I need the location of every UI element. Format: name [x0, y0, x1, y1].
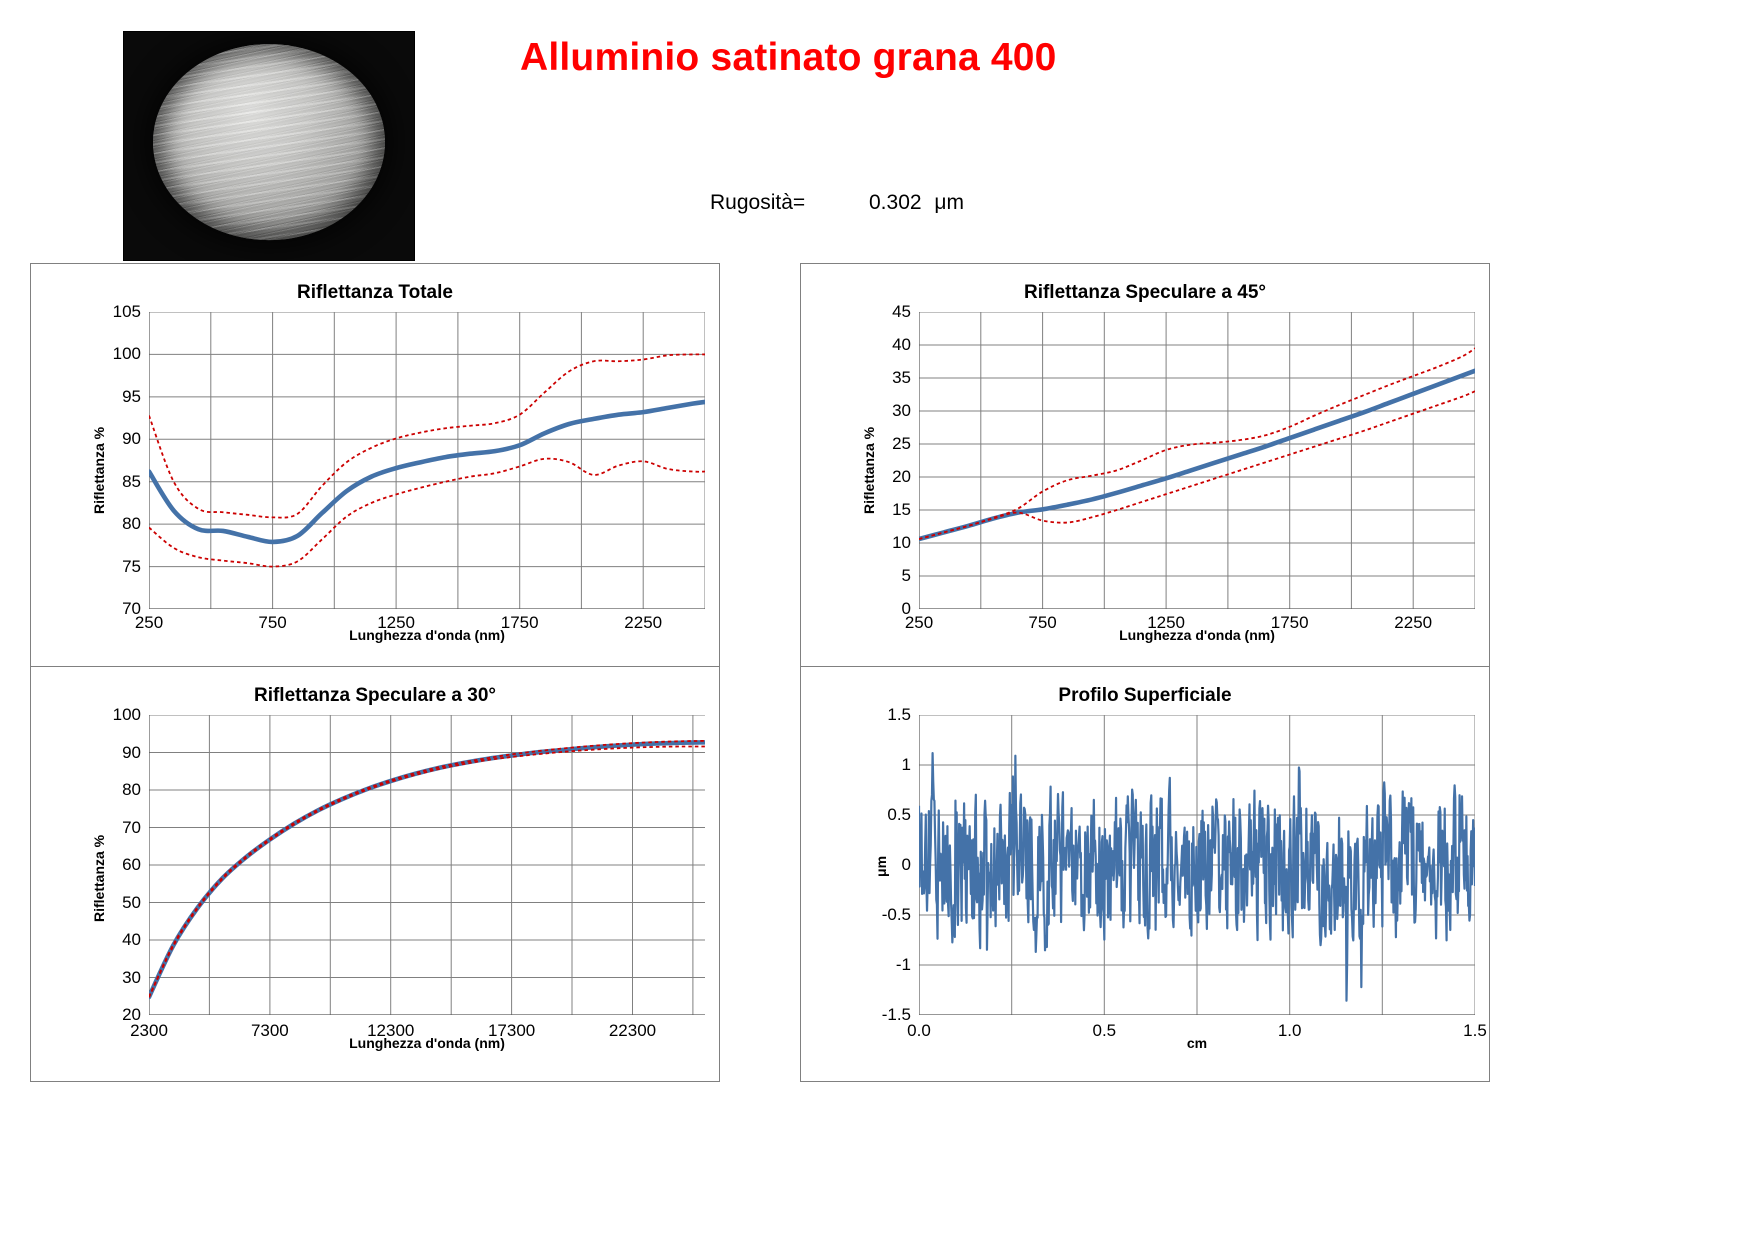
y-axis-tick: 10	[853, 533, 911, 553]
plot-area-riflettanza-speculare-45	[919, 312, 1475, 609]
y-axis-tick: 5	[853, 566, 911, 586]
y-axis-tick: 0	[853, 599, 911, 619]
chart-title: Riflettanza Totale	[31, 282, 719, 304]
y-axis-label: Riflettanza %	[91, 835, 107, 922]
y-axis-tick: 105	[83, 302, 141, 322]
y-axis-tick: 40	[83, 930, 141, 950]
page-title: Alluminio satinato grana 400	[520, 36, 1057, 80]
y-axis-tick: 35	[853, 368, 911, 388]
y-axis-tick: 90	[83, 743, 141, 763]
chart-panel-riflettanza-totale: Riflettanza Totale 707580859095100105250…	[30, 263, 720, 667]
chart-title: Riflettanza Speculare a 45°	[801, 282, 1489, 304]
chart-svg	[149, 312, 705, 609]
roughness-label: Rugosità=	[710, 191, 805, 215]
brush-texture-fine	[153, 44, 385, 240]
chart-title: Profilo Superficiale	[801, 685, 1489, 707]
y-axis-tick: -1	[853, 955, 911, 975]
y-axis-tick: 40	[853, 335, 911, 355]
roughness-unit: μm	[934, 191, 964, 215]
y-axis-tick: 70	[83, 599, 141, 619]
sample-disc	[153, 44, 385, 240]
y-axis-tick: 30	[853, 401, 911, 421]
y-axis-tick: 75	[83, 557, 141, 577]
y-axis-tick: 45	[853, 302, 911, 322]
x-axis-label: Lunghezza d'onda (nm)	[149, 627, 705, 643]
series-line-1	[149, 354, 705, 517]
roughness-row: Rugosità= 0.302 μm	[710, 191, 964, 215]
x-axis-label: Lunghezza d'onda (nm)	[919, 627, 1475, 643]
y-axis-tick: 80	[83, 780, 141, 800]
y-axis-tick: 100	[83, 705, 141, 725]
chart-svg	[919, 715, 1475, 1015]
plot-area-riflettanza-speculare-30	[149, 715, 705, 1015]
sample-photo	[123, 31, 415, 261]
chart-svg	[149, 715, 705, 1015]
y-axis-tick: 30	[83, 968, 141, 988]
series-line-0	[149, 742, 705, 997]
chart-svg	[919, 312, 1475, 609]
y-axis-tick: 1	[853, 755, 911, 775]
y-axis-label: μm	[873, 856, 889, 877]
y-axis-tick: 0.5	[853, 805, 911, 825]
y-axis-tick: -1.5	[853, 1005, 911, 1025]
x-axis-label: cm	[919, 1035, 1475, 1051]
chart-panel-riflettanza-speculare-45: Riflettanza Speculare a 45° 051015202530…	[800, 263, 1490, 667]
roughness-value: 0.302	[869, 191, 922, 215]
plot-area-profilo-superficiale	[919, 715, 1475, 1015]
x-axis-label: Lunghezza d'onda (nm)	[149, 1035, 705, 1051]
y-axis-tick: 80	[83, 514, 141, 534]
y-axis-label: Riflettanza %	[91, 427, 107, 514]
y-axis-tick: 1.5	[853, 705, 911, 725]
series-line-2	[149, 459, 705, 567]
chart-panel-riflettanza-speculare-30: Riflettanza Speculare a 30° 203040506070…	[30, 666, 720, 1082]
y-axis-label: Riflettanza %	[861, 427, 877, 514]
y-axis-tick: 95	[83, 387, 141, 407]
chart-panel-profilo-superficiale: Profilo Superficiale -1.5-1-0.500.511.50…	[800, 666, 1490, 1082]
series-line-0	[149, 402, 705, 542]
y-axis-tick: 100	[83, 344, 141, 364]
series-line-0	[919, 371, 1475, 539]
y-axis-tick: -0.5	[853, 905, 911, 925]
plot-area-riflettanza-totale	[149, 312, 705, 609]
chart-title: Riflettanza Speculare a 30°	[31, 685, 719, 707]
